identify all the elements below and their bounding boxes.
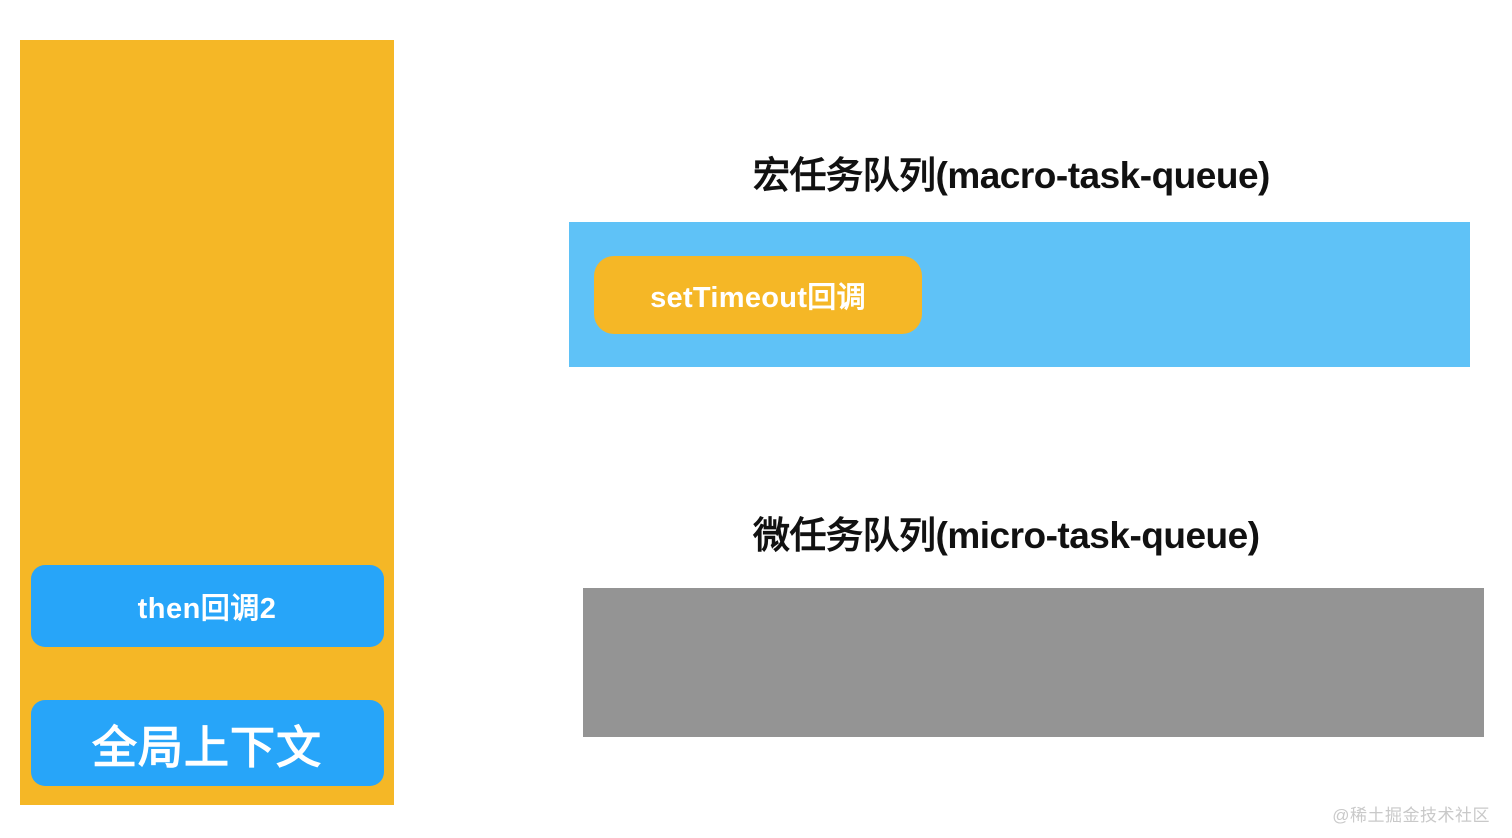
macro-task-item-label: setTimeout回调 xyxy=(650,274,866,316)
call-stack-panel: then回调2 全局上下文 xyxy=(20,40,394,805)
call-stack-frame-label: then回调2 xyxy=(138,585,277,627)
micro-task-queue-title: 微任务队列(micro-task-queue) xyxy=(753,505,1260,559)
watermark: @稀土掘金技术社区 xyxy=(1332,801,1490,826)
call-stack-frame-global-context: 全局上下文 xyxy=(31,700,384,786)
call-stack-frame-then-callback-2: then回调2 xyxy=(31,565,384,647)
macro-task-queue-bar: setTimeout回调 xyxy=(569,222,1470,367)
call-stack-frame-label: 全局上下文 xyxy=(92,711,322,776)
diagram-canvas: then回调2 全局上下文 宏任务队列(macro-task-queue) se… xyxy=(0,0,1512,838)
macro-task-queue-title: 宏任务队列(macro-task-queue) xyxy=(753,145,1270,199)
micro-task-queue-bar xyxy=(583,588,1484,737)
macro-task-item-settimeout-callback: setTimeout回调 xyxy=(594,256,922,334)
